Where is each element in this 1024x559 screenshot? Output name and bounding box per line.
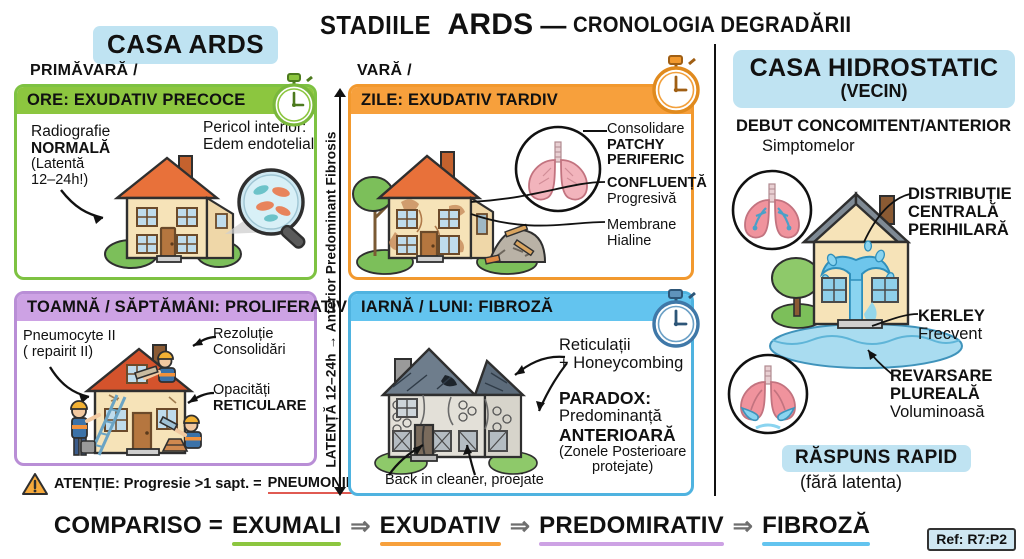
page-title: STADIILE ARDS — CRONOLOGIA DEGRADĂRII xyxy=(320,6,960,44)
vertical-axis: LATENȚĂ 12–24h → Anterior Predominant Fi… xyxy=(318,92,344,492)
anno-paradox: PARADOX: Predominanță ANTERIOARĂ (Zonele… xyxy=(559,389,686,476)
casa-hidrostatic-subtitle: (VECIN) xyxy=(739,81,1009,102)
debut-concomitent-line1: DEBUT CONCOMITENT/ANTERIOR xyxy=(736,118,1011,136)
vertical-axis-line xyxy=(339,96,341,488)
anno-consolidare-patchy: Consolidare PATCHY PERIFERIC xyxy=(607,122,684,169)
summary-item-0: EXUMALI xyxy=(232,512,341,546)
panel-header-fibroza: IARNĂ / LUNI: FIBROZĂ xyxy=(351,294,691,321)
summary-arrow-2: ⇒ xyxy=(733,512,753,541)
summary-item-2-bar xyxy=(539,542,724,546)
summary-item-3-bar xyxy=(762,542,870,546)
summary-arrow-0: ⇒ xyxy=(350,512,370,541)
vertical-axis-label: LATENȚĂ 12–24h → Anterior Predominant Fi… xyxy=(324,100,339,500)
panel-body-fibroza: Reticulații + Honeycombing PARADOX: Pred… xyxy=(351,321,691,493)
stopwatch-icon-tardiv xyxy=(646,54,706,116)
axis-arrow-up-icon xyxy=(334,88,346,97)
summary-item-3: FIBROZĂ xyxy=(762,512,870,546)
warning-text: ATENȚIE: Progresie >1 sapt. = xyxy=(54,476,262,492)
panel-body-exudativ-precoce: Radiografie NORMALĂ (Latentă 12–24h!) xyxy=(17,114,314,277)
casa-ards-label: CASA ARDS xyxy=(93,26,278,64)
magnifier-icon xyxy=(225,162,317,258)
anno-distributie-centrala: DISTRIBUȚIE CENTRALĂ PERIHILARĂ xyxy=(908,186,1012,239)
anno-membrane-hialine: Membrane Hialine xyxy=(607,218,676,249)
debut-concomitent-line2: Simptomelor xyxy=(762,138,855,156)
summary-item-0-label: EXUMALI xyxy=(232,512,341,539)
anno-revarsare-plureala: REVARSARE PLUREALĂ Voluminoasă xyxy=(890,368,992,421)
title-part-subtitle: CRONOLOGIA DEGRADĂRII xyxy=(573,12,851,38)
ref-badge: Ref: R7:P2 xyxy=(927,528,1016,551)
title-part-stadiile: STADIILE xyxy=(320,10,431,41)
infographic-canvas: STADIILE ARDS — CRONOLOGIA DEGRADĂRII CA… xyxy=(0,0,1024,559)
raspuns-rapid-sub: (fără latenta) xyxy=(800,472,902,493)
axis-arrow-down-icon xyxy=(334,487,346,496)
stopwatch-icon-precoce xyxy=(266,72,322,128)
anno-opacitati-reticulare: Opacități RETICULARE xyxy=(213,383,306,414)
title-part-ards: ARDS xyxy=(448,8,534,42)
casa-ards-chip: CASA ARDS xyxy=(93,26,278,64)
leader-line-patchy xyxy=(583,124,611,138)
leader-line-membrane xyxy=(469,198,609,244)
pointer-arrows-bottom xyxy=(379,433,509,479)
summary-item-1: EXUDATIV xyxy=(380,512,501,546)
column-divider xyxy=(714,44,716,496)
panel-fibroza[interactable]: IARNĂ / LUNI: FIBROZĂ xyxy=(348,291,694,496)
lung-effusion-icon xyxy=(726,352,810,436)
anno-kerley: KERLEY Frecvent xyxy=(918,308,985,344)
repair-house-icon xyxy=(65,339,225,465)
summary-item-0-bar xyxy=(232,542,341,546)
raspuns-rapid-chip: RĂSPUNS RAPID xyxy=(782,445,971,472)
panel-header-proliferativ: TOAMNĂ / SĂPTĂMÂNI: PROLIFERATIV xyxy=(17,294,314,321)
panel-header-exudativ-tardiv: ZILE: EXUDATIV TARDIV xyxy=(351,87,691,114)
panel-body-proliferativ: Pneumocyte II ( repairit II) Rezoluție C… xyxy=(17,321,314,463)
warning-row: ATENȚIE: Progresie >1 sapt. = PNEUMONIE xyxy=(22,472,355,496)
season-label-vara: VARĂ / xyxy=(357,62,412,80)
leader-line-kerley xyxy=(868,306,922,332)
season-label-primavara: PRIMĂVARĂ / xyxy=(30,62,138,80)
warning-triangle-icon xyxy=(22,472,48,496)
anno-radiografie-normala: Radiografie NORMALĂ (Latentă 12–24h!) xyxy=(31,124,110,189)
summary-item-2: PREDOMIRATIV xyxy=(539,512,724,546)
leader-line-distributie xyxy=(852,186,914,256)
anno-confluenta: CONFLUENȚĂ Progresivă xyxy=(607,176,707,207)
summary-item-2-label: PREDOMIRATIV xyxy=(539,512,724,539)
panel-exudativ-tardiv[interactable]: ZILE: EXUDATIV TARDIV xyxy=(348,84,694,280)
summary-item-1-label: EXUDATIV xyxy=(380,512,501,539)
summary-lead: COMPARISO = xyxy=(54,512,223,540)
panel-body-exudativ-tardiv: Consolidare PATCHY PERIFERIC CONFLUENȚĂ … xyxy=(351,114,691,277)
casa-hidrostatic-chip: CASA HIDROSTATIC (VECIN) xyxy=(733,50,1015,108)
summary-row: COMPARISO = EXUMALI ⇒ EXUDATIV ⇒ PREDOMI… xyxy=(0,512,924,546)
panel-proliferativ[interactable]: TOAMNĂ / SĂPTĂMÂNI: PROLIFERATIV Pneumoc… xyxy=(14,291,317,466)
leader-line-revarsare xyxy=(856,348,900,382)
summary-item-3-label: FIBROZĂ xyxy=(762,512,870,539)
casa-hidrostatic-title: CASA HIDROSTATIC xyxy=(739,54,1009,83)
stopwatch-icon-fibroza xyxy=(646,288,706,350)
summary-arrow-1: ⇒ xyxy=(510,512,530,541)
intact-house-icon xyxy=(101,136,241,276)
summary-item-1-bar xyxy=(380,542,501,546)
title-dash: — xyxy=(540,10,566,41)
